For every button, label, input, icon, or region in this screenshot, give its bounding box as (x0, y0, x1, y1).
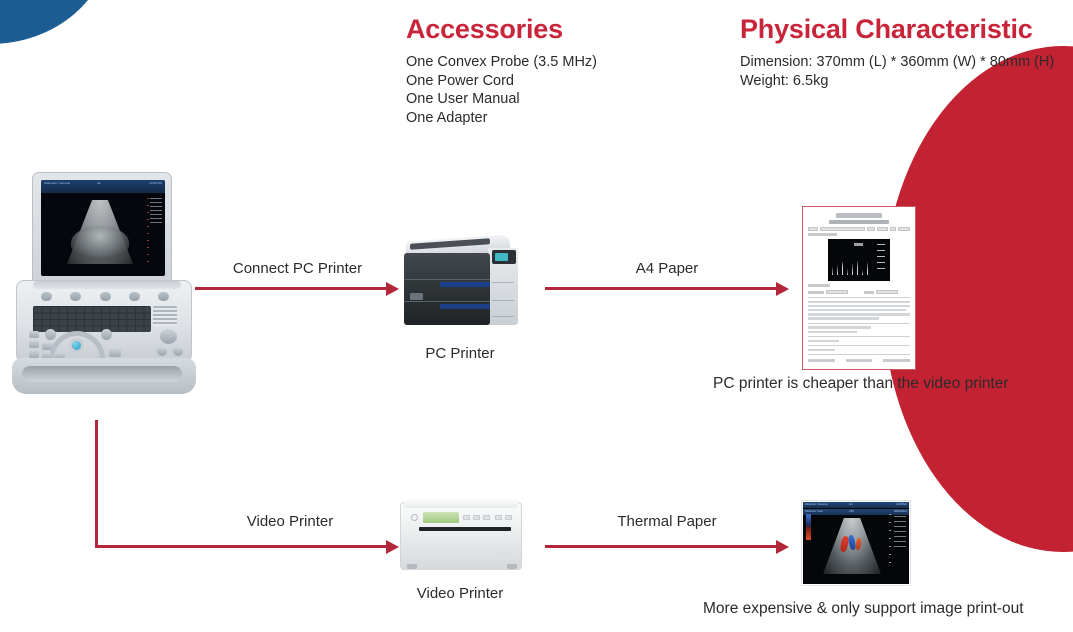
screen-header-left: Abdomen / General (44, 181, 70, 185)
accessories-item: One Adapter (406, 109, 597, 128)
report-image-waveform (832, 259, 870, 275)
video-printer-button (495, 515, 502, 520)
accessories-item: One User Manual (406, 90, 597, 109)
report-image-scale (877, 244, 885, 272)
video-printer-brand-label: · · · · · · · (493, 551, 513, 555)
report-text-line (808, 317, 879, 320)
video-printer-foot (407, 564, 417, 569)
machine-top-button (100, 292, 111, 301)
machine-screen: Abdomen / General Gn CONTEC (41, 180, 165, 276)
accessories-list: One Convex Probe (3.5 MHz) One Power Cor… (406, 53, 597, 127)
machine-button (29, 351, 39, 358)
arrowhead-connect-pc-printer (386, 282, 399, 296)
machine-handle (22, 366, 182, 382)
machine-button (42, 343, 52, 350)
report-field-row (808, 227, 910, 231)
pc-printer-cassette-seam (492, 282, 514, 283)
branch-elbow-vertical (95, 420, 98, 548)
screen-header-bar: Abdomen / General Gn CONTEC (41, 180, 165, 193)
report-field-label (864, 291, 874, 294)
machine-knob (45, 329, 56, 340)
thermal-side-params (894, 516, 906, 550)
video-printer-paper-slot (419, 527, 511, 531)
video-printer-button (483, 515, 490, 520)
machine-hinge (33, 281, 181, 289)
arrow-thermal-paper (545, 545, 777, 548)
report-text-line (808, 340, 839, 343)
screen-header-center: Gn (97, 181, 101, 185)
printed-report-image (802, 206, 916, 370)
physical-item: Dimension: 370mm (L) * 360mm (W) * 80mm … (740, 53, 1054, 72)
report-signature-row (808, 359, 910, 362)
report-signature-field (883, 359, 910, 362)
report-signature-field (846, 359, 873, 362)
machine-knob (101, 329, 112, 340)
machine-button (29, 331, 39, 338)
arrow-connect-pc-printer (195, 287, 387, 290)
physical-characteristic-heading: Physical Characteristic (740, 14, 1033, 45)
machine-knob (160, 329, 177, 344)
pc-printer-cassette-seam (492, 300, 514, 301)
thermal-image-inner: Abdomen / General Gn CONTEC Abdomen Colo… (803, 502, 909, 584)
arrow-a4-paper (545, 287, 777, 290)
report-text-line (808, 301, 910, 304)
report-field (877, 227, 889, 231)
pc-printer-seam (404, 279, 490, 280)
note-video-printer-expensive: More expensive & only support image prin… (703, 600, 1024, 618)
video-printer-knob (411, 514, 418, 521)
report-document-subtitle (829, 220, 888, 224)
thermal-color-bar (806, 514, 811, 540)
thermal-header-center2: C50 (849, 510, 854, 513)
machine-knob (157, 347, 167, 356)
video-printer-image: · · · · · · · (400, 498, 522, 576)
thermal-header-left2: Abdomen Color (805, 510, 823, 513)
slide-canvas: Accessories One Convex Probe (3.5 MHz) O… (0, 0, 1073, 632)
thermal-header-bar-1: Abdomen / General Gn CONTEC (803, 502, 909, 508)
report-divider (808, 345, 910, 346)
report-field-row (808, 290, 910, 294)
machine-knob (173, 347, 183, 356)
caption-pc-printer: PC Printer (398, 345, 522, 362)
pc-printer-lcd-screen (495, 253, 508, 261)
report-field (826, 290, 848, 294)
thermal-header-right2: 08/02/2021 (894, 510, 907, 513)
machine-top-button (70, 292, 81, 301)
arrow-label-thermal-paper: Thermal Paper (545, 513, 789, 530)
report-hospital-title (836, 213, 883, 218)
machine-top-button (129, 292, 140, 301)
machine-lid: Abdomen / General Gn CONTEC CONTEC (32, 172, 172, 290)
report-field (876, 290, 898, 294)
machine-front-panel (12, 358, 196, 394)
thermal-printout-image: Abdomen / General Gn CONTEC Abdomen Colo… (801, 500, 911, 586)
report-field (890, 227, 896, 231)
report-section-label (808, 284, 830, 287)
report-divider (808, 336, 910, 337)
video-printer-button (473, 515, 480, 520)
screen-side-params (150, 198, 162, 224)
accessories-heading: Accessories (406, 14, 563, 45)
arrow-label-a4-paper: A4 Paper (545, 260, 789, 277)
thermal-header-bar-2: Abdomen Color C50 08/02/2021 (803, 509, 909, 515)
thermal-depth-scale (889, 514, 891, 568)
report-text-line (808, 313, 910, 316)
report-field (898, 227, 910, 231)
report-field (867, 227, 875, 231)
machine-base (16, 280, 192, 366)
pc-printer-blue-stripe (440, 282, 490, 287)
report-section-label (808, 233, 837, 236)
report-divider (808, 354, 910, 355)
report-text-line (808, 331, 857, 334)
screen-header-right: CONTEC (149, 181, 162, 185)
arrow-label-video-printer: Video Printer (195, 513, 385, 530)
branch-elbow-horizontal (95, 545, 387, 548)
report-text-line (808, 305, 910, 308)
machine-button (29, 341, 39, 348)
accessories-item: One Convex Probe (3.5 MHz) (406, 53, 597, 72)
accessories-item: One Power Cord (406, 72, 597, 91)
report-field (820, 227, 865, 231)
machine-top-buttons (41, 292, 169, 302)
thermal-header-left: Abdomen / General (805, 503, 828, 506)
report-signature-field (808, 359, 835, 362)
machine-tgc-sliders (153, 306, 177, 326)
pc-printer-cassette-seam (492, 316, 514, 317)
arrow-label-connect-pc-printer: Connect PC Printer (195, 260, 400, 277)
report-text-line (808, 349, 835, 352)
note-pc-printer-cheaper: PC printer is cheaper than the video pri… (713, 375, 1009, 393)
physical-item: Weight: 6.5kg (740, 72, 1054, 91)
pc-printer-blue-stripe (440, 304, 490, 309)
physical-characteristic-list: Dimension: 370mm (L) * 360mm (W) * 80mm … (740, 53, 1054, 90)
machine-trackball (69, 338, 84, 353)
video-printer-body: · · · · · · · (400, 502, 522, 570)
video-printer-lcd-screen (423, 512, 459, 523)
caption-video-printer: Video Printer (398, 585, 522, 602)
video-printer-top-face (404, 498, 518, 508)
report-image-tag (854, 243, 863, 246)
pc-printer-logo (410, 293, 423, 300)
video-printer-button (463, 515, 470, 520)
arrowhead-video-printer (386, 540, 399, 554)
video-printer-foot (507, 564, 517, 569)
report-ultrasound-image (828, 239, 889, 281)
report-divider (808, 297, 910, 298)
report-text-line (808, 309, 906, 312)
blue-corner-decoration (0, 0, 110, 44)
pc-printer-seam (404, 301, 490, 302)
video-printer-feet (407, 564, 517, 569)
machine-top-button (158, 292, 169, 301)
report-divider (808, 323, 910, 324)
screen-depth-ruler (147, 198, 149, 268)
video-printer-button (505, 515, 512, 520)
machine-top-button (41, 292, 52, 301)
ultrasound-machine-image: Abdomen / General Gn CONTEC CONTEC (12, 172, 196, 408)
report-field (808, 227, 818, 231)
report-field-label (808, 291, 824, 294)
thermal-header-right: CONTEC (896, 503, 907, 506)
thermal-header-center: Gn (849, 503, 852, 506)
pc-printer-body (404, 253, 490, 325)
arrowhead-a4-paper (776, 282, 789, 296)
machine-button (109, 349, 121, 357)
pc-printer-image (404, 238, 518, 332)
screen-scan-organ (71, 226, 129, 260)
arrowhead-thermal-paper (776, 540, 789, 554)
report-text-line (808, 326, 871, 329)
